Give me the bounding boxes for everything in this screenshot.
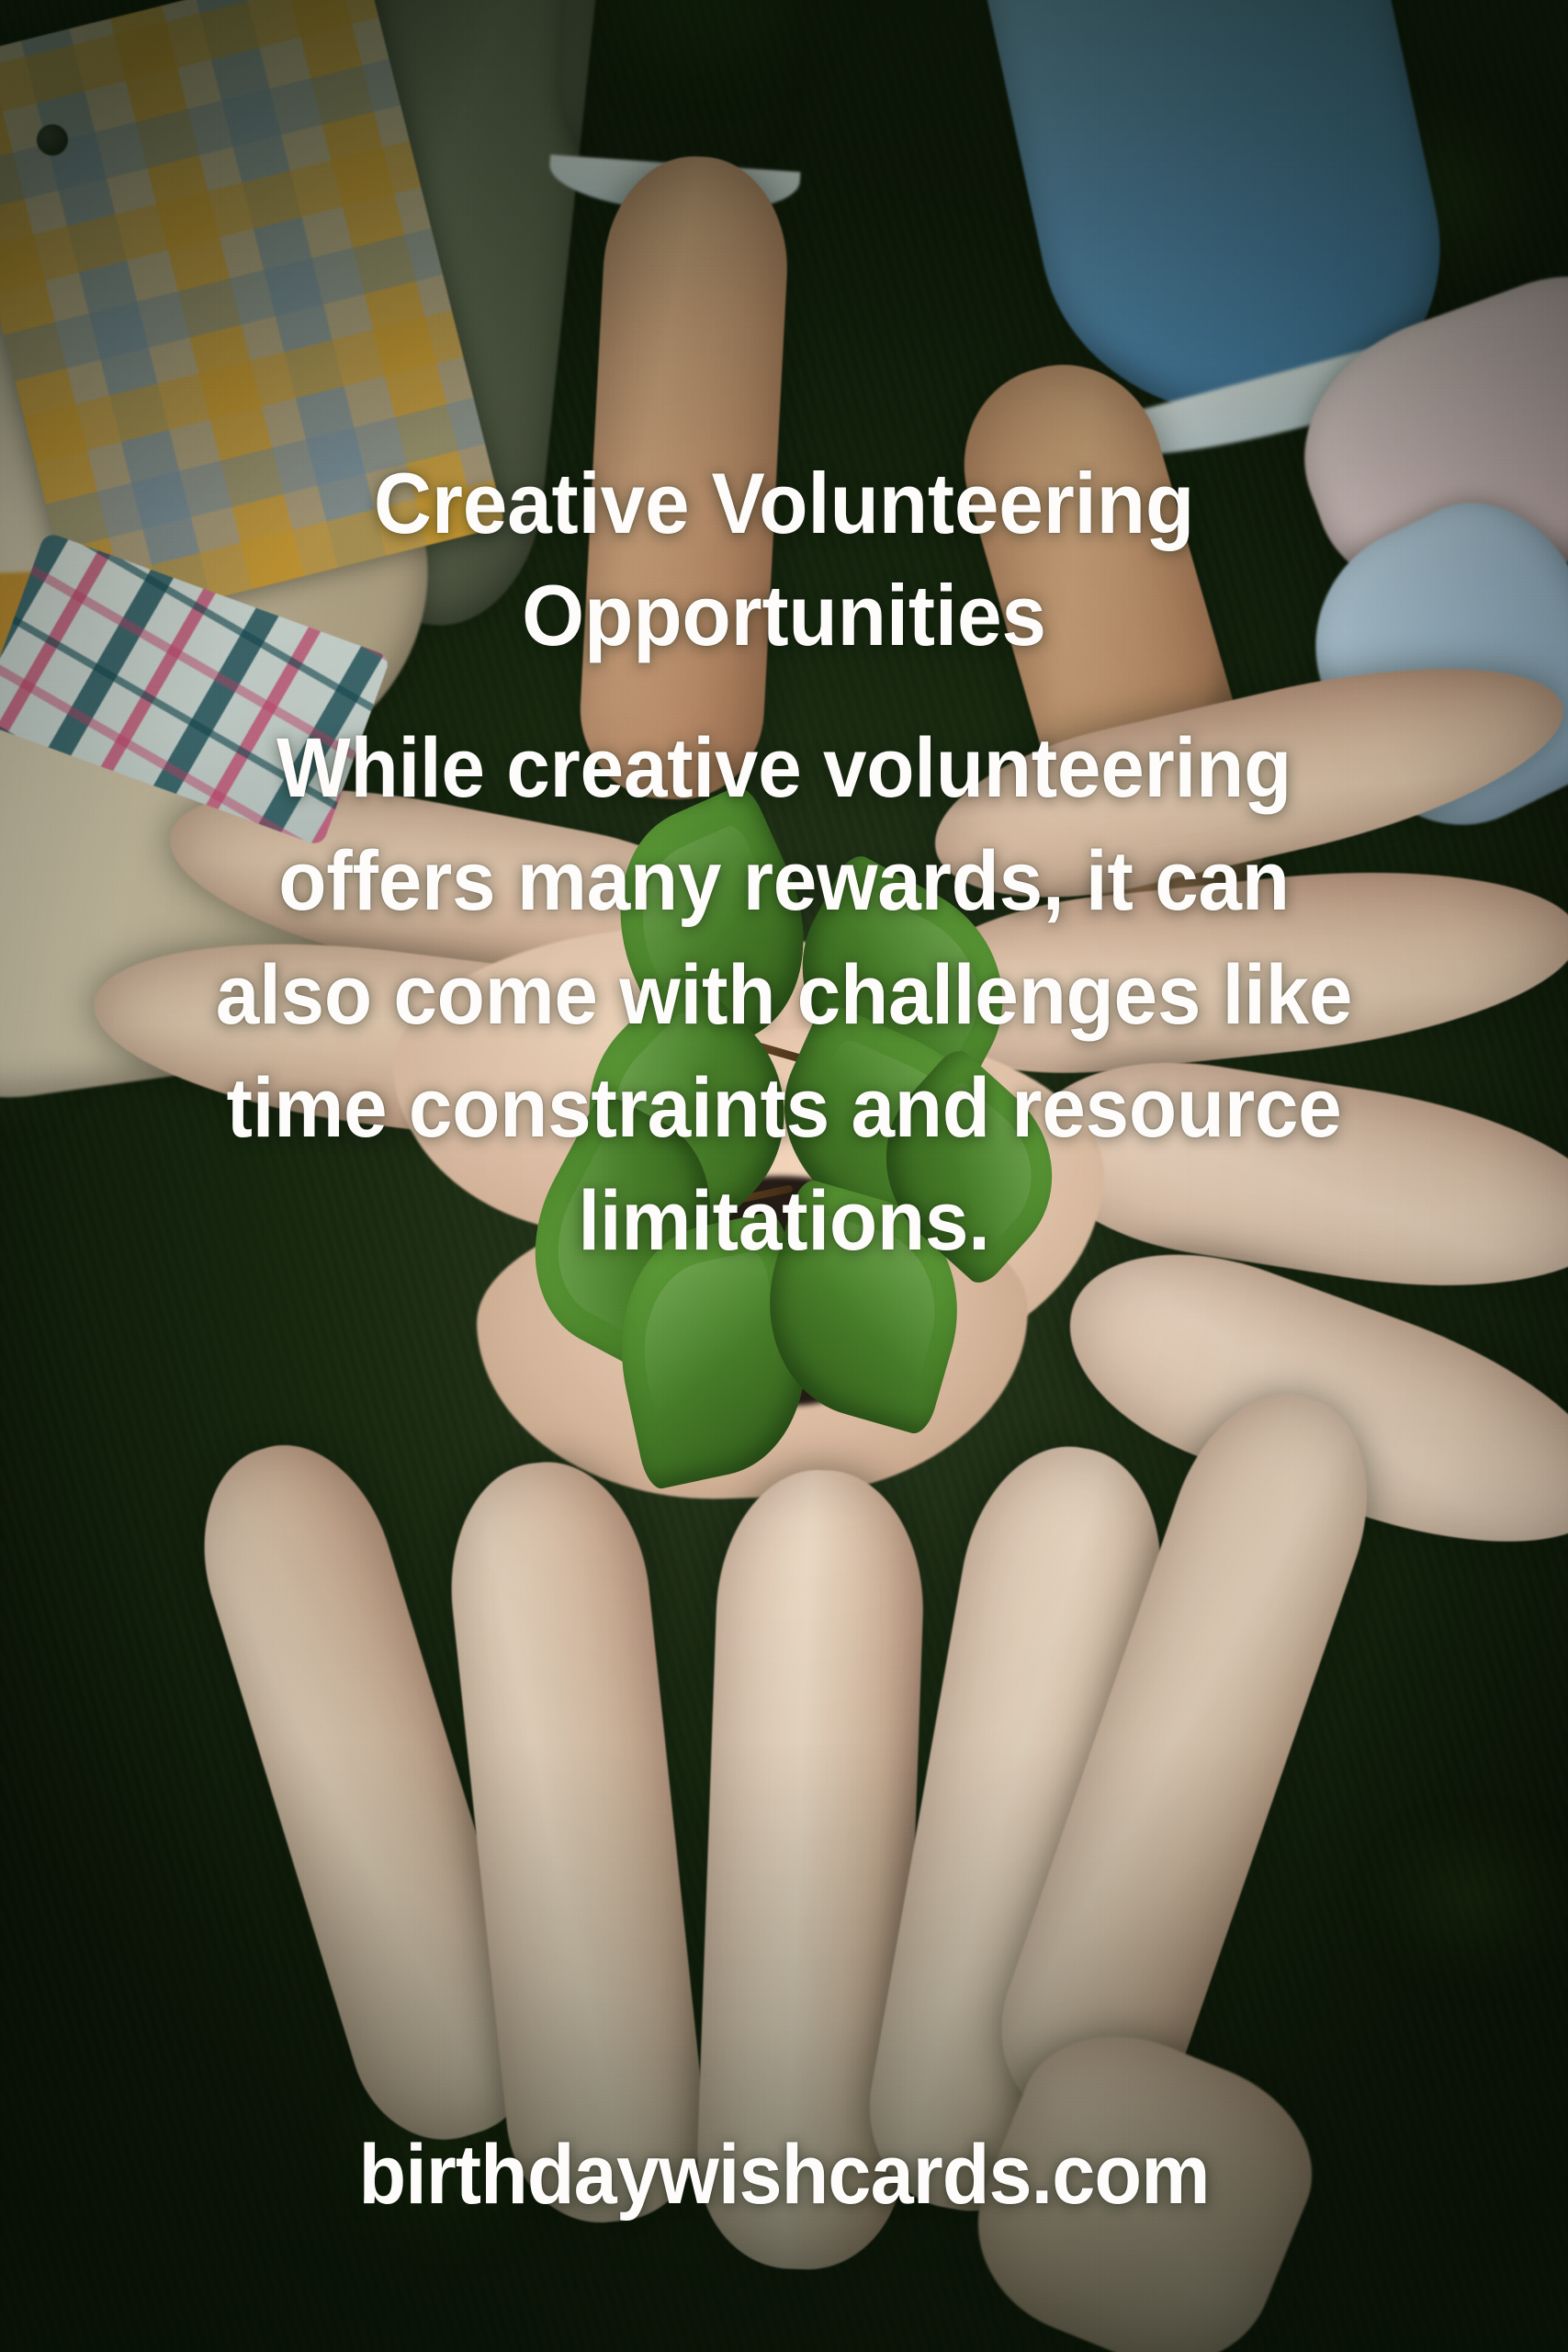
text-overlay: Creative Volunteering Opportunities Whil…: [0, 0, 1568, 2352]
body-line-5: limitations.: [175, 1165, 1393, 1278]
body-line-3: also come with challenges like: [175, 939, 1393, 1052]
body-paragraph: While creative volunteering offers many …: [55, 712, 1514, 1278]
body-line-1: While creative volunteering: [175, 712, 1393, 825]
body-line-2: offers many rewards, it can: [175, 825, 1393, 938]
page-title: Creative Volunteering Opportunities: [55, 447, 1514, 672]
pinterest-card: Creative Volunteering Opportunities Whil…: [0, 0, 1568, 2352]
body-line-4: time constraints and resource: [175, 1052, 1393, 1165]
watermark-url[interactable]: birthdaywishcards.com: [62, 2127, 1505, 2223]
